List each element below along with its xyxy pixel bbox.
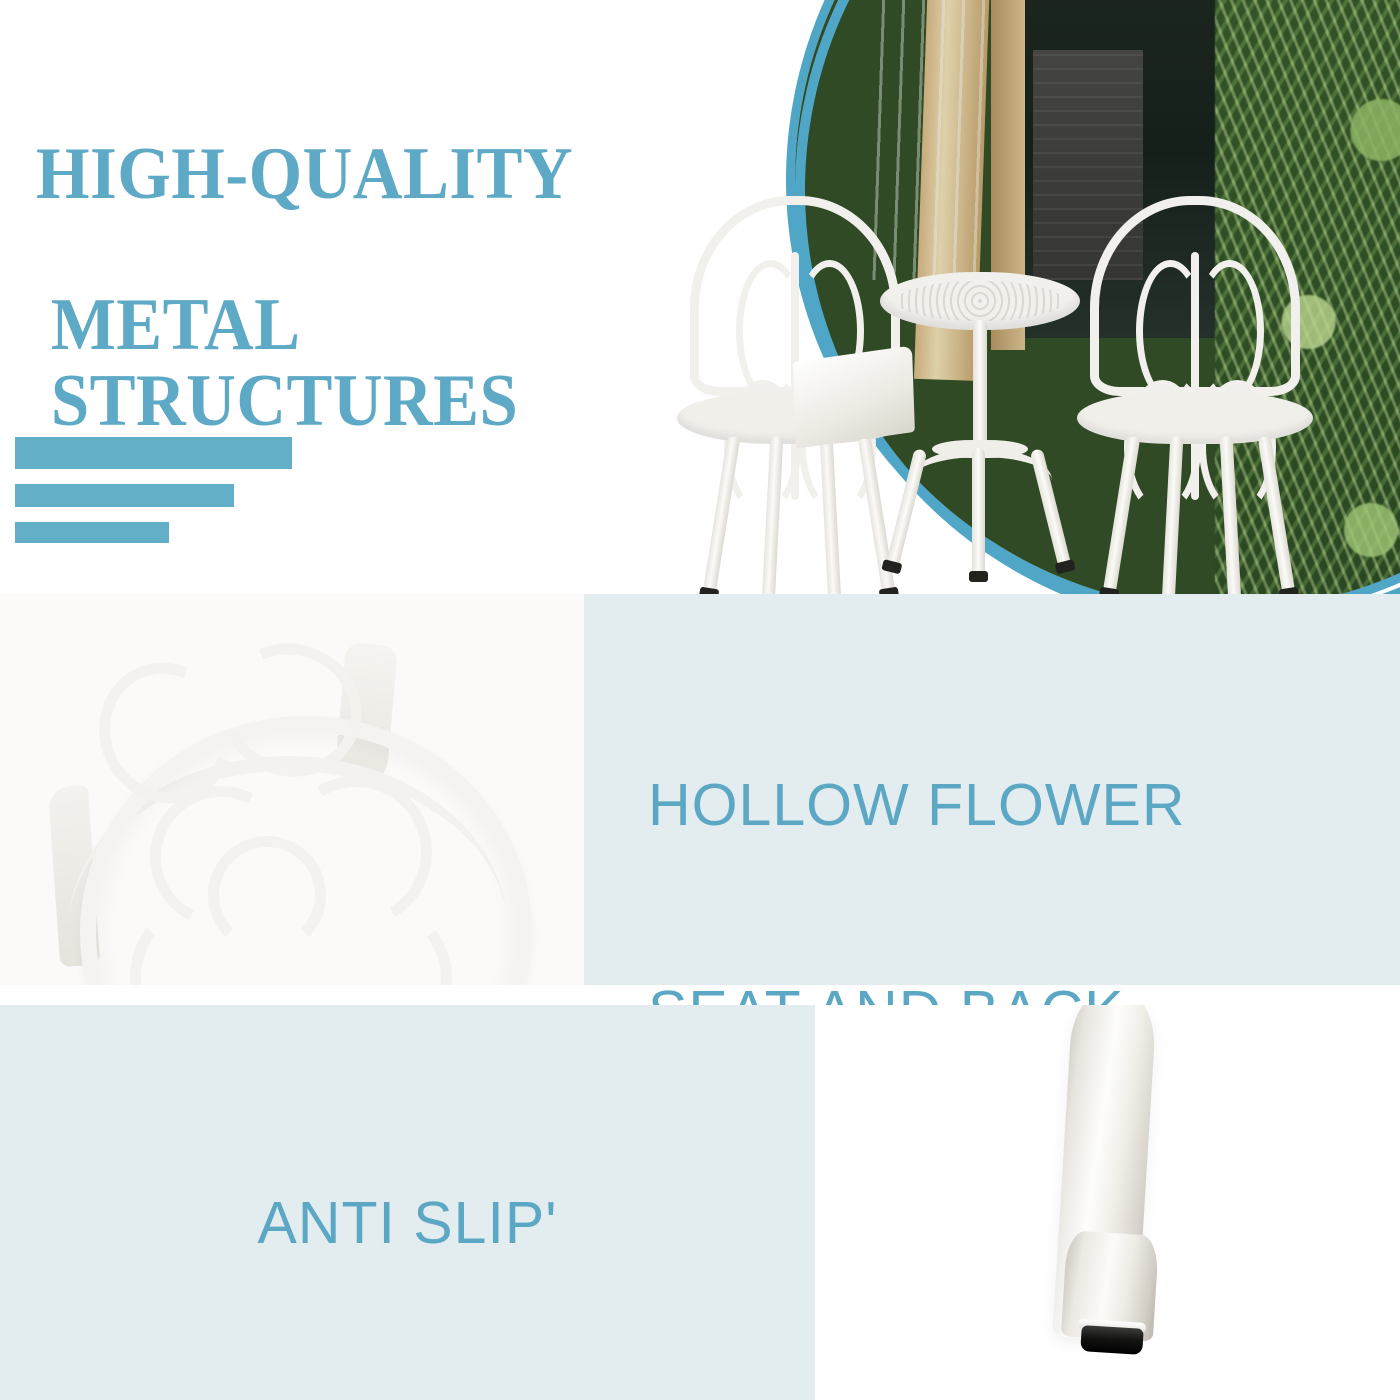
table-top-lace-pattern bbox=[896, 281, 1064, 321]
infographic-poster: HIGH-QUALITY METAL STRUCTURES bbox=[0, 0, 1400, 1400]
decor-bar-3 bbox=[15, 522, 169, 543]
decor-bar-2 bbox=[15, 484, 234, 507]
middle-section: HOLLOW FLOWER SEAT AND BACK bbox=[0, 594, 1400, 985]
bistro-chair-right bbox=[1090, 196, 1300, 594]
ornate-seat-detail bbox=[40, 636, 540, 985]
table-column bbox=[973, 320, 987, 452]
hollow-flower-text-panel: HOLLOW FLOWER SEAT AND BACK bbox=[584, 594, 1400, 985]
hollow-flower-seat-photo bbox=[0, 594, 584, 985]
bistro-round-table bbox=[880, 272, 1080, 562]
anti-slip-heading: ANTI SLIP' STOOL LEGS bbox=[0, 1120, 815, 1400]
anti-slip-foot bbox=[969, 571, 988, 582]
headline-line-2: METAL STRUCTURES bbox=[36, 288, 761, 439]
headline-line-1: HIGH-QUALITY bbox=[36, 137, 761, 212]
folded-white-napkin bbox=[793, 345, 915, 448]
anti-slip-foot bbox=[699, 587, 719, 594]
hollow-flower-heading: HOLLOW FLOWER SEAT AND BACK bbox=[648, 702, 1186, 1047]
anti-slip-line-1: ANTI SLIP' bbox=[258, 1190, 558, 1256]
chair-leg-4 bbox=[1258, 436, 1296, 594]
hollow-flower-line-1: HOLLOW FLOWER bbox=[648, 772, 1186, 838]
scroll-curl-5 bbox=[208, 836, 326, 954]
anti-slip-text-panel: ANTI SLIP' STOOL LEGS bbox=[0, 1005, 815, 1400]
chair-leg-1 bbox=[1103, 436, 1141, 594]
chair-seat bbox=[1077, 392, 1312, 444]
anti-slip-foot bbox=[1279, 587, 1299, 594]
anti-slip-foot bbox=[879, 587, 899, 594]
chair-leg-1 bbox=[703, 436, 741, 594]
top-section: HIGH-QUALITY METAL STRUCTURES bbox=[0, 0, 1400, 594]
table-leg-2 bbox=[972, 448, 985, 576]
bottom-section: ANTI SLIP' STOOL LEGS bbox=[0, 1005, 1400, 1400]
decorative-bars bbox=[15, 437, 292, 558]
anti-slip-leg-photo bbox=[815, 1005, 1400, 1400]
decor-bar-1 bbox=[15, 437, 292, 469]
anti-slip-foot bbox=[1099, 587, 1119, 594]
anti-slip-rubber-foot bbox=[1080, 1325, 1143, 1355]
